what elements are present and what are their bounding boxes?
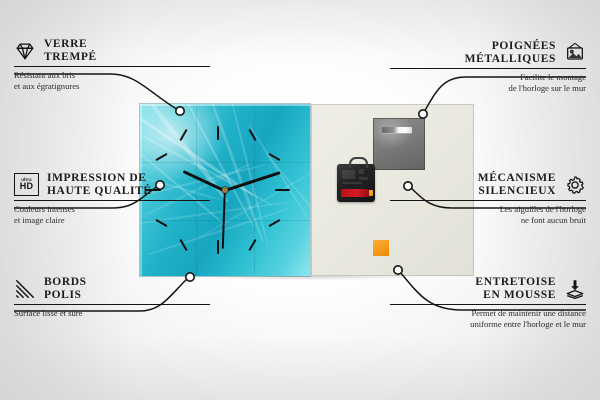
feature-title-line2: MÉTALLIQUES — [465, 53, 556, 66]
clock-tick — [179, 129, 187, 141]
feature-desc-line1: Facilite le montage — [390, 72, 586, 82]
diamond-icon — [14, 40, 36, 62]
hanger-slot — [382, 127, 412, 133]
foam-spacer-piece — [373, 240, 389, 256]
feature-desc-line1: Résistant aux bris — [14, 70, 210, 80]
feature-desc-line2: et image claire — [14, 215, 210, 225]
feature-title-line1: IMPRESSION DE — [47, 172, 152, 185]
clock-tick — [155, 153, 167, 161]
clock-tick — [268, 153, 280, 161]
feature-desc-line2: uniforme entre l'horloge et le mur — [390, 319, 586, 329]
feature-title-line2: EN MOUSSE — [475, 289, 556, 302]
feature-title-line1: BORDS — [44, 276, 87, 289]
feature-title-line2: TREMPÉ — [44, 51, 97, 64]
feature-desc-line1: Les aiguilles de l'horloge — [390, 204, 586, 214]
feature-rule — [14, 304, 210, 305]
ultra-hd-icon: ultra HD — [14, 173, 39, 196]
mechanism-hanging-loop — [349, 157, 368, 168]
feature-title-line1: VERRE — [44, 38, 97, 51]
gear-icon — [564, 174, 586, 196]
feature-desc-line2: et aux égratignures — [14, 81, 210, 91]
feature-poignees-metalliques: POIGNÉES MÉTALLIQUES Facilite le montage… — [390, 40, 586, 93]
feature-rule — [390, 200, 586, 201]
feature-title-line1: POIGNÉES — [465, 40, 556, 53]
clock-tick — [179, 239, 187, 251]
clock-tick — [248, 239, 256, 251]
feature-desc-line1: Couleurs intenses — [14, 204, 210, 214]
feature-desc-line2: de l'horloge sur le mur — [390, 83, 586, 93]
polished-edge-icon — [14, 278, 36, 300]
feature-entretoise-en-mousse: ENTRETOISE EN MOUSSE Permet de maintenir… — [390, 276, 586, 329]
metal-hanger-plate — [373, 118, 425, 170]
feature-title-line2: POLIS — [44, 289, 87, 302]
clock-tick — [217, 240, 219, 254]
feature-rule — [14, 200, 210, 201]
feature-title-line2: SILENCIEUX — [478, 185, 556, 198]
feature-title-line1: ENTRETOISE — [475, 276, 556, 289]
clock-mechanism — [337, 164, 375, 202]
feature-verre-trempe: VERRE TREMPÉ Résistant aux bris et aux é… — [14, 38, 210, 91]
clock-center-hub — [222, 187, 228, 193]
feature-rule — [390, 68, 586, 69]
clock-tick — [275, 189, 290, 191]
feature-bords-polis: BORDS POLIS Surface lisse et sûre — [14, 276, 210, 319]
clock-tick — [217, 126, 219, 140]
clock-tick — [248, 129, 256, 141]
feature-rule — [14, 66, 210, 67]
feature-title-line2: HAUTE QUALITÉ — [47, 185, 152, 198]
feature-impression-haute-qualite: ultra HD IMPRESSION DE HAUTE QUALITÉ Cou… — [14, 172, 210, 225]
feature-title-line1: MÉCANISME — [478, 172, 556, 185]
clock-hand-minute — [225, 171, 281, 192]
feature-desc-line2: ne font aucun bruit — [390, 215, 586, 225]
feature-rule — [390, 304, 586, 305]
mechanism-battery — [341, 189, 370, 197]
feature-mecanisme-silencieux: MÉCANISME SILENCIEUX Les aiguilles de l'… — [390, 172, 586, 225]
foam-spacer-icon — [564, 278, 586, 300]
infographic-canvas: VERRE TREMPÉ Résistant aux bris et aux é… — [0, 0, 600, 400]
feature-desc-line1: Surface lisse et sûre — [14, 308, 210, 318]
feature-desc-line1: Permet de maintenir une distance — [390, 308, 586, 318]
ultra-hd-large-text: HD — [20, 182, 34, 191]
hanging-frame-icon — [564, 42, 586, 64]
